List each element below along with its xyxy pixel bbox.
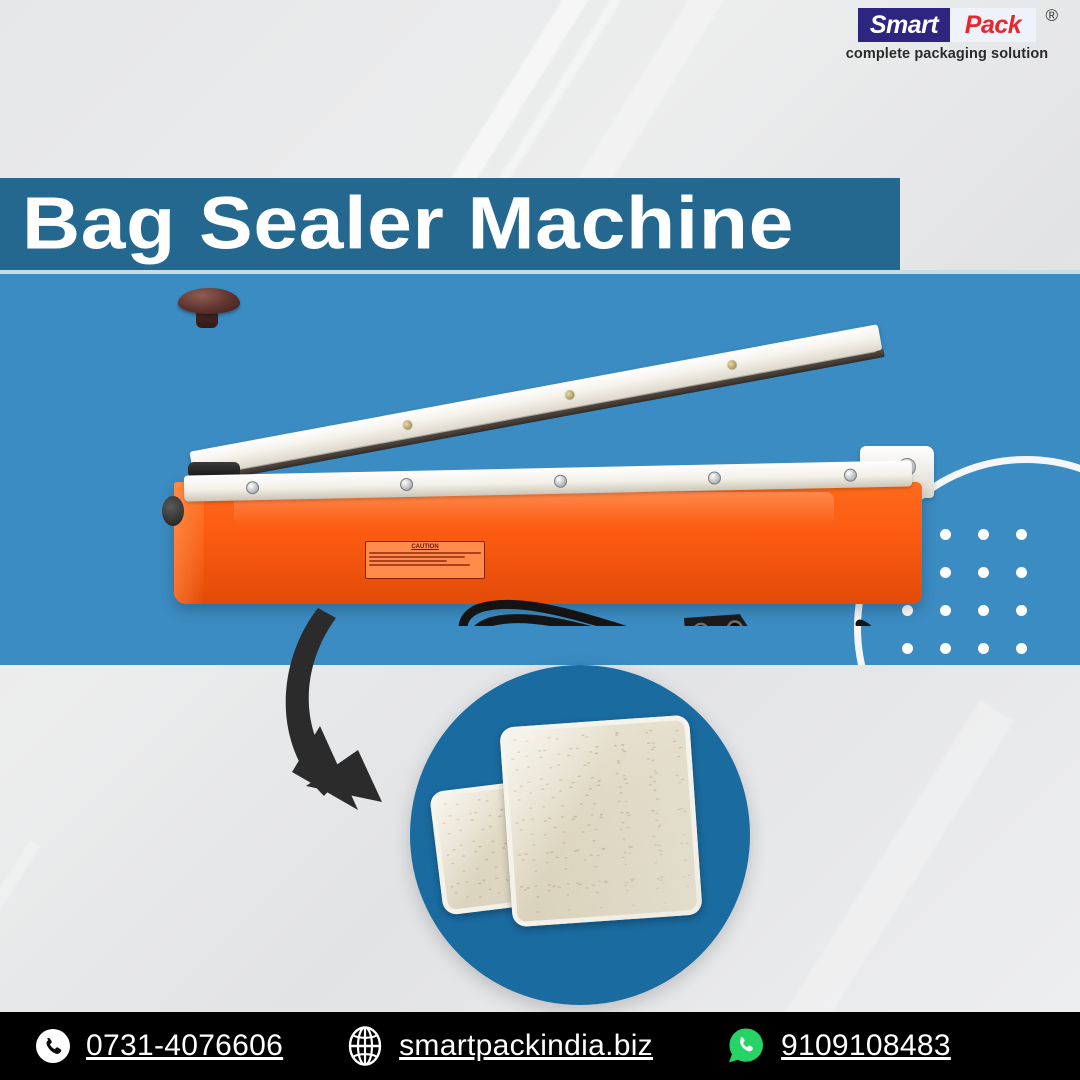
whatsapp-number: 9109108483 — [781, 1029, 951, 1063]
title-banner: Bag Sealer Machine — [0, 178, 900, 270]
contact-phone[interactable]: 0731-4076606 — [34, 1027, 283, 1065]
brand-logo: ® Smart Pack complete packaging solution — [832, 8, 1062, 62]
background-streak — [570, 0, 770, 206]
logo-word-pack: Pack — [950, 8, 1036, 42]
logo-mark: Smart Pack — [858, 8, 1036, 42]
contact-bar: 0731-4076606 smartpackindia.biz 91091084… — [0, 1012, 1080, 1080]
bag-sealer-machine-image: CAUTION — [160, 296, 950, 626]
website-url: smartpackindia.biz — [399, 1029, 653, 1063]
contact-whatsapp[interactable]: 9109108483 — [725, 1025, 951, 1067]
page-title: Bag Sealer Machine — [22, 186, 794, 260]
machine-power-cable — [160, 296, 950, 626]
globe-icon — [345, 1025, 385, 1067]
background-streak — [441, 0, 619, 206]
registered-trademark-icon: ® — [1045, 6, 1058, 26]
logo-word-smart: Smart — [858, 8, 950, 42]
poster-canvas: ® Smart Pack complete packaging solution… — [0, 0, 1080, 1080]
logo-tagline: complete packaging solution — [832, 46, 1062, 62]
phone-number: 0731-4076606 — [86, 1029, 283, 1063]
contact-website[interactable]: smartpackindia.biz — [345, 1025, 653, 1067]
whatsapp-icon — [725, 1025, 767, 1067]
sealed-bag-front — [499, 715, 702, 928]
background-streak — [490, 0, 668, 197]
hero-panel: CAUTION — [0, 274, 1080, 665]
sealed-bags-photo — [410, 665, 750, 1005]
callout-arrow-icon — [262, 600, 432, 830]
phone-icon — [34, 1027, 72, 1065]
